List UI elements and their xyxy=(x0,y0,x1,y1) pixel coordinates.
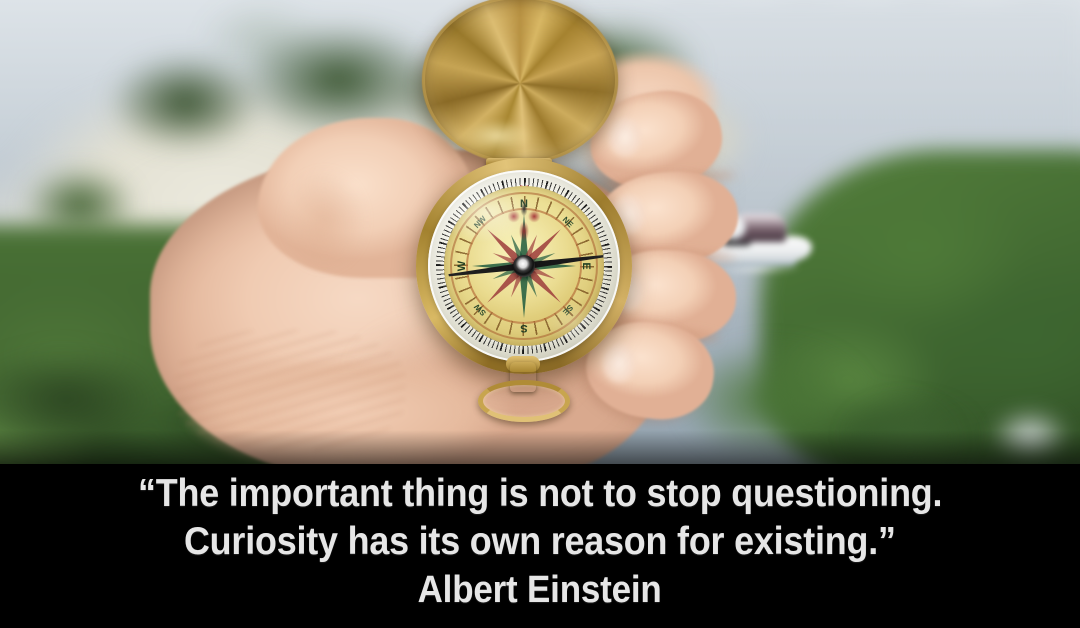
quote-image: 2040608010012014016020022024026028030032… xyxy=(0,0,1080,628)
quote-line-2: Curiosity has its own reason for existin… xyxy=(184,518,896,566)
compass: 2040608010012014016020022024026028030032… xyxy=(400,0,660,420)
compass-lid-highlight xyxy=(452,110,542,162)
background-photo: 2040608010012014016020022024026028030032… xyxy=(0,0,1080,464)
thumb-shadow xyxy=(250,150,370,290)
needle-pivot xyxy=(513,255,535,277)
quote-attribution: Albert Einstein xyxy=(418,566,662,614)
photo-bottom-vignette xyxy=(0,430,1080,464)
quote-caption-bar: “The important thing is not to stop ques… xyxy=(0,464,1080,628)
compass-dial: NNEESESSWWNW xyxy=(444,186,604,346)
quote-line-1: “The important thing is not to stop ques… xyxy=(138,470,942,518)
compass-loop-ring xyxy=(478,380,570,422)
